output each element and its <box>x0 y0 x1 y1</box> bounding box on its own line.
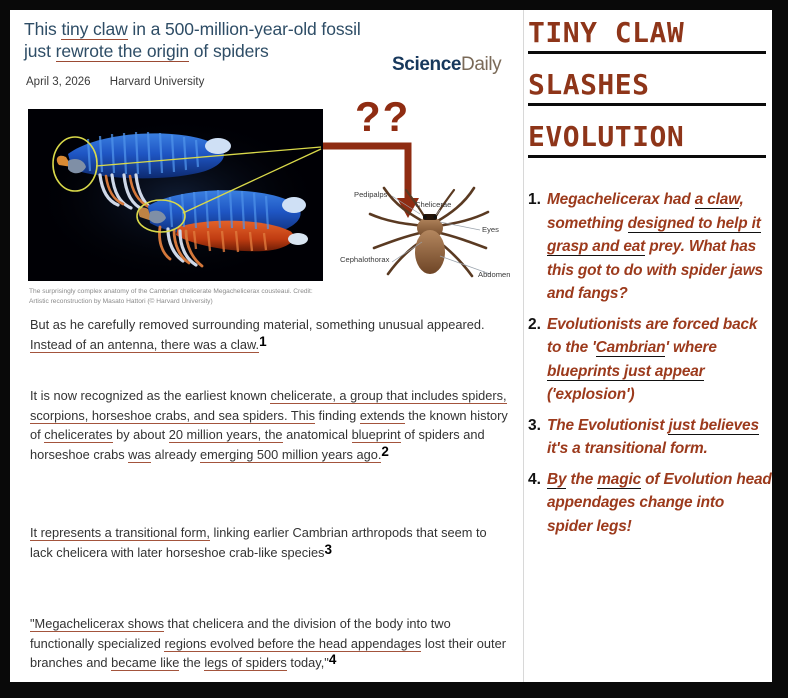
label-pedipalps: Pedipalps <box>354 190 387 199</box>
text-run: This <box>24 19 61 39</box>
article-byline: April 3, 2026 Harvard University <box>26 76 204 88</box>
underlined-text-run: magic <box>597 471 641 489</box>
commentary-title-line: EVOLUTION <box>528 120 766 158</box>
commentary-point: 3.The Evolutionist just believes it's a … <box>528 414 772 461</box>
underlined-text-run: rewrote the origin <box>56 41 189 62</box>
commentary-panel: TINY CLAW SLASHES EVOLUTION 1.Megachelic… <box>524 10 772 682</box>
paragraph-marker-number: 4 <box>329 652 337 667</box>
article-paragraph: It is now recognized as the earliest kno… <box>30 386 510 464</box>
image-frame: This tiny claw in a 500-million-year-old… <box>0 0 788 698</box>
label-chelicerae: Chelicerae <box>415 200 451 209</box>
spider-anatomy-diagram: Pedipalps Chelicerae Eyes Cephalothorax … <box>340 170 518 288</box>
article-paragraph: "Megachelicerax shows that chelicera and… <box>30 614 510 673</box>
underlined-text-run: Cambrian <box>596 339 666 357</box>
text-run: the <box>179 655 204 670</box>
fossil-artwork <box>28 109 323 281</box>
underlined-text-run: became like <box>111 655 179 671</box>
underlined-text-run: By <box>547 471 566 489</box>
commentary-point: 2.Evolutionists are forced back to the '… <box>528 313 772 407</box>
commentary-point-text: Evolutionists are forced back to the 'Ca… <box>547 313 772 407</box>
commentary-title-line: SLASHES <box>528 68 766 106</box>
article-panel: This tiny claw in a 500-million-year-old… <box>10 10 523 682</box>
text-run: today," <box>287 655 329 670</box>
text-run: the <box>566 471 597 488</box>
commentary-point: 4.By the magic of Evolution head appenda… <box>528 468 772 539</box>
underlined-text-run: just believes <box>668 417 758 435</box>
paragraph-marker-number: 1 <box>259 334 267 349</box>
underlined-text-run: legs of spiders <box>204 655 287 671</box>
logo-primary-text: Science <box>392 54 461 75</box>
commentary-point-number: 3. <box>528 414 547 438</box>
underlined-text-run: emerging 500 million years ago. <box>200 447 381 463</box>
commentary-point-text: By the magic of Evolution head appendage… <box>547 468 772 539</box>
commentary-point-number: 2. <box>528 313 547 337</box>
text-run: finding <box>315 408 360 423</box>
text-run: already <box>151 447 200 462</box>
text-run: Megachelicerax had <box>547 191 695 208</box>
underlined-text-run: chelicerates <box>44 427 112 443</box>
underlined-text-run: regions evolved before the head appendag… <box>164 636 421 652</box>
text-run: by about <box>113 427 169 442</box>
text-run: ('explosion') <box>547 386 634 403</box>
underlined-text-run: was <box>128 447 151 463</box>
commentary-point-number: 4. <box>528 468 547 492</box>
underlined-text-run: a claw <box>695 191 740 209</box>
label-cephalothorax: Cephalothorax <box>340 255 389 264</box>
underlined-text-run: blueprints just appear <box>547 363 704 381</box>
text-run: anatomical <box>283 427 352 442</box>
underlined-text-run: blueprint <box>352 427 401 443</box>
page-canvas: This tiny claw in a 500-million-year-old… <box>10 10 772 682</box>
text-run: It is now recognized as the earliest kno… <box>30 388 270 403</box>
commentary-title: TINY CLAW SLASHES EVOLUTION <box>528 16 772 172</box>
article-paragraph: But as he carefully removed surrounding … <box>30 315 510 354</box>
article-paragraph: It represents a transitional form, linki… <box>30 523 510 562</box>
logo-secondary-text: Daily <box>461 54 501 75</box>
underlined-text-run: 20 million years, the <box>169 427 283 443</box>
paragraph-marker-number: 2 <box>381 444 389 459</box>
text-run: The Evolutionist <box>547 417 668 434</box>
paragraph-marker-number: 3 <box>324 542 332 557</box>
commentary-point: 1.Megachelicerax had a claw, something d… <box>528 188 772 306</box>
underlined-text-run: It represents a transitional form, <box>30 525 210 541</box>
label-eyes: Eyes <box>482 225 499 234</box>
text-run: it's a transitional form. <box>547 440 708 457</box>
commentary-points-list: 1.Megachelicerax had a claw, something d… <box>528 188 772 545</box>
text-run: But as he carefully removed surrounding … <box>30 317 485 332</box>
underlined-text-run: tiny claw <box>61 19 127 40</box>
photo-caption: The surprisingly complex anatomy of the … <box>29 287 329 306</box>
commentary-point-text: The Evolutionist just believes it's a tr… <box>547 414 772 461</box>
text-run: ' where <box>665 339 716 356</box>
text-run: of spiders <box>189 41 269 61</box>
commentary-point-text: Megachelicerax had a claw, something des… <box>547 188 772 306</box>
commentary-point-number: 1. <box>528 188 547 212</box>
article-organization: Harvard University <box>110 76 205 88</box>
fossil-reconstruction-photo <box>28 109 323 281</box>
sciencedaily-logo: ScienceDaily <box>392 54 501 76</box>
commentary-title-line: TINY CLAW <box>528 16 766 54</box>
underlined-text-run: Instead of an antenna, there was a claw. <box>30 337 259 353</box>
underlined-text-run: "Megachelicerax shows <box>30 616 164 632</box>
underlined-text-run: extends <box>360 408 405 424</box>
label-abdomen: Abdomen <box>478 270 511 279</box>
article-headline: This tiny claw in a 500-million-year-old… <box>24 18 384 62</box>
article-date: April 3, 2026 <box>26 76 91 88</box>
